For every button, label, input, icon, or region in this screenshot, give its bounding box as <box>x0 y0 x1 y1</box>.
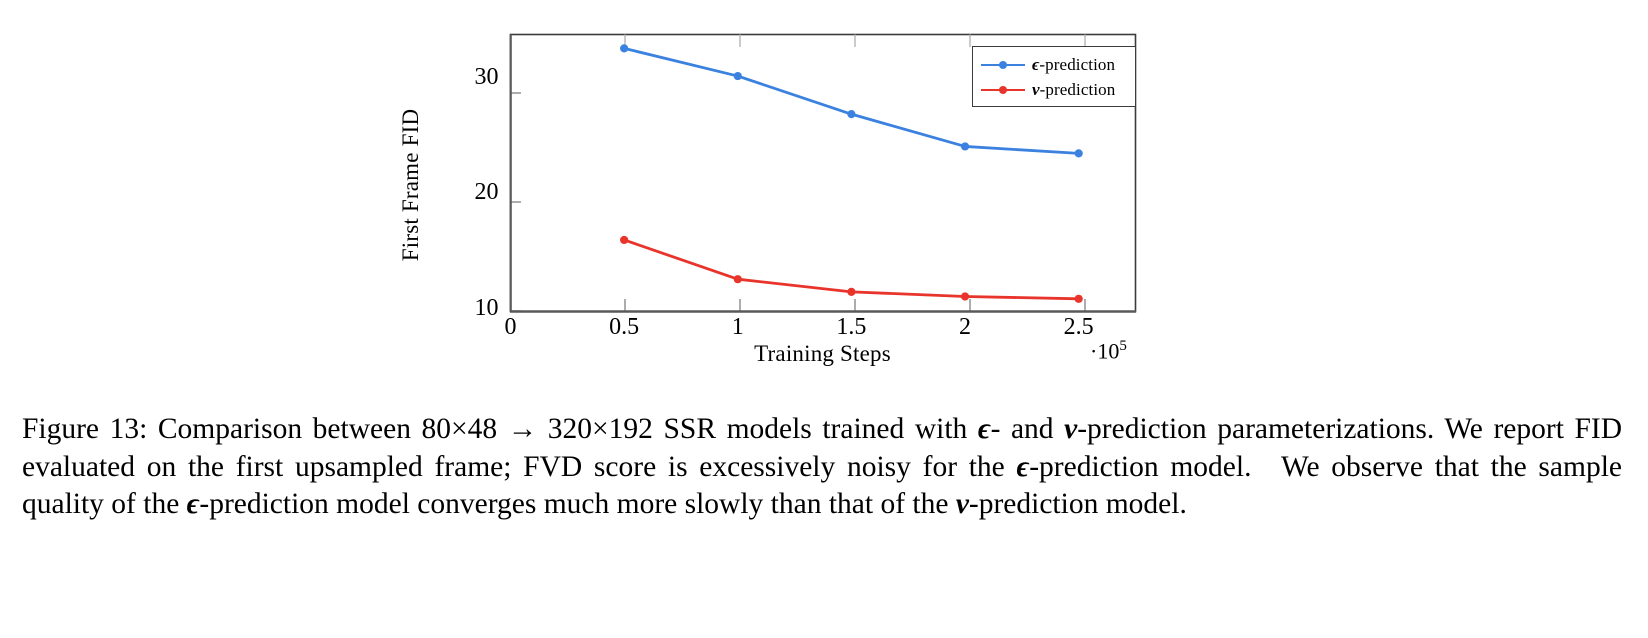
data-point <box>847 288 855 296</box>
data-point <box>847 110 855 118</box>
x-tick-label: 2 <box>925 314 1005 341</box>
legend-item-epsilon-prediction[interactable]: ϵ-prediction <box>973 52 1135 77</box>
legend-suffix-v: -prediction <box>1040 80 1116 99</box>
x-axis-multiplier-base: ·10 <box>1090 338 1119 363</box>
figure-caption: Figure 13: Comparison between 80×48 → 32… <box>22 411 1622 524</box>
data-point <box>1075 295 1083 303</box>
y-axis-ticks <box>511 93 522 311</box>
data-point <box>620 44 628 52</box>
data-point <box>961 292 969 300</box>
caption-symbol-v-1: v <box>1064 413 1077 445</box>
y-tick-label: 30 <box>439 64 499 91</box>
x-tick-label: 2.5 <box>1039 314 1119 341</box>
caption-text-part6: -prediction model. <box>969 488 1187 520</box>
data-point <box>961 142 969 150</box>
x-tick-label: 0 <box>471 314 551 341</box>
x-axis-multiplier-exponent: 5 <box>1119 338 1127 354</box>
chart-legend: ϵ-prediction v-prediction <box>972 46 1136 107</box>
x-tick-label: 1.5 <box>811 314 891 341</box>
caption-symbol-epsilon-3: ϵ <box>187 488 200 520</box>
caption-symbol-epsilon-1: ϵ <box>978 413 991 445</box>
legend-marker-epsilon-prediction <box>981 58 1025 72</box>
caption-text-part5: -prediction model converges much more sl… <box>199 488 955 520</box>
x-axis-title: Training Steps <box>510 341 1135 367</box>
legend-item-v-prediction[interactable]: v-prediction <box>973 77 1135 102</box>
figure-chart-container: First Frame FID Training Steps ·105 1020… <box>0 0 1648 395</box>
x-tick-label: 0.5 <box>584 314 664 341</box>
y-tick-label: 20 <box>439 179 499 206</box>
caption-symbol-epsilon-2: ϵ <box>1017 451 1030 483</box>
legend-suffix-epsilon: -prediction <box>1039 55 1115 74</box>
legend-label-epsilon-prediction: ϵ-prediction <box>1032 55 1115 75</box>
caption-symbol-v-2: v <box>956 488 969 520</box>
legend-symbol-v: v <box>1032 80 1040 99</box>
data-point <box>1075 149 1083 157</box>
data-point <box>734 72 742 80</box>
legend-marker-v-prediction <box>981 83 1025 97</box>
x-axis-multiplier: ·105 <box>1090 338 1127 364</box>
x-tick-label: 1 <box>698 314 778 341</box>
caption-text-part1: Comparison between 80×48 → 320×192 SSR m… <box>147 413 978 445</box>
y-axis-title: First Frame FID <box>398 0 424 60</box>
data-point <box>734 275 742 283</box>
caption-figure-label: Figure 13: <box>22 413 147 445</box>
legend-label-v-prediction: v-prediction <box>1032 80 1115 100</box>
data-point <box>620 236 628 244</box>
caption-text-part2: - and <box>991 413 1065 445</box>
y-axis-title-text: First Frame FID <box>398 60 424 310</box>
